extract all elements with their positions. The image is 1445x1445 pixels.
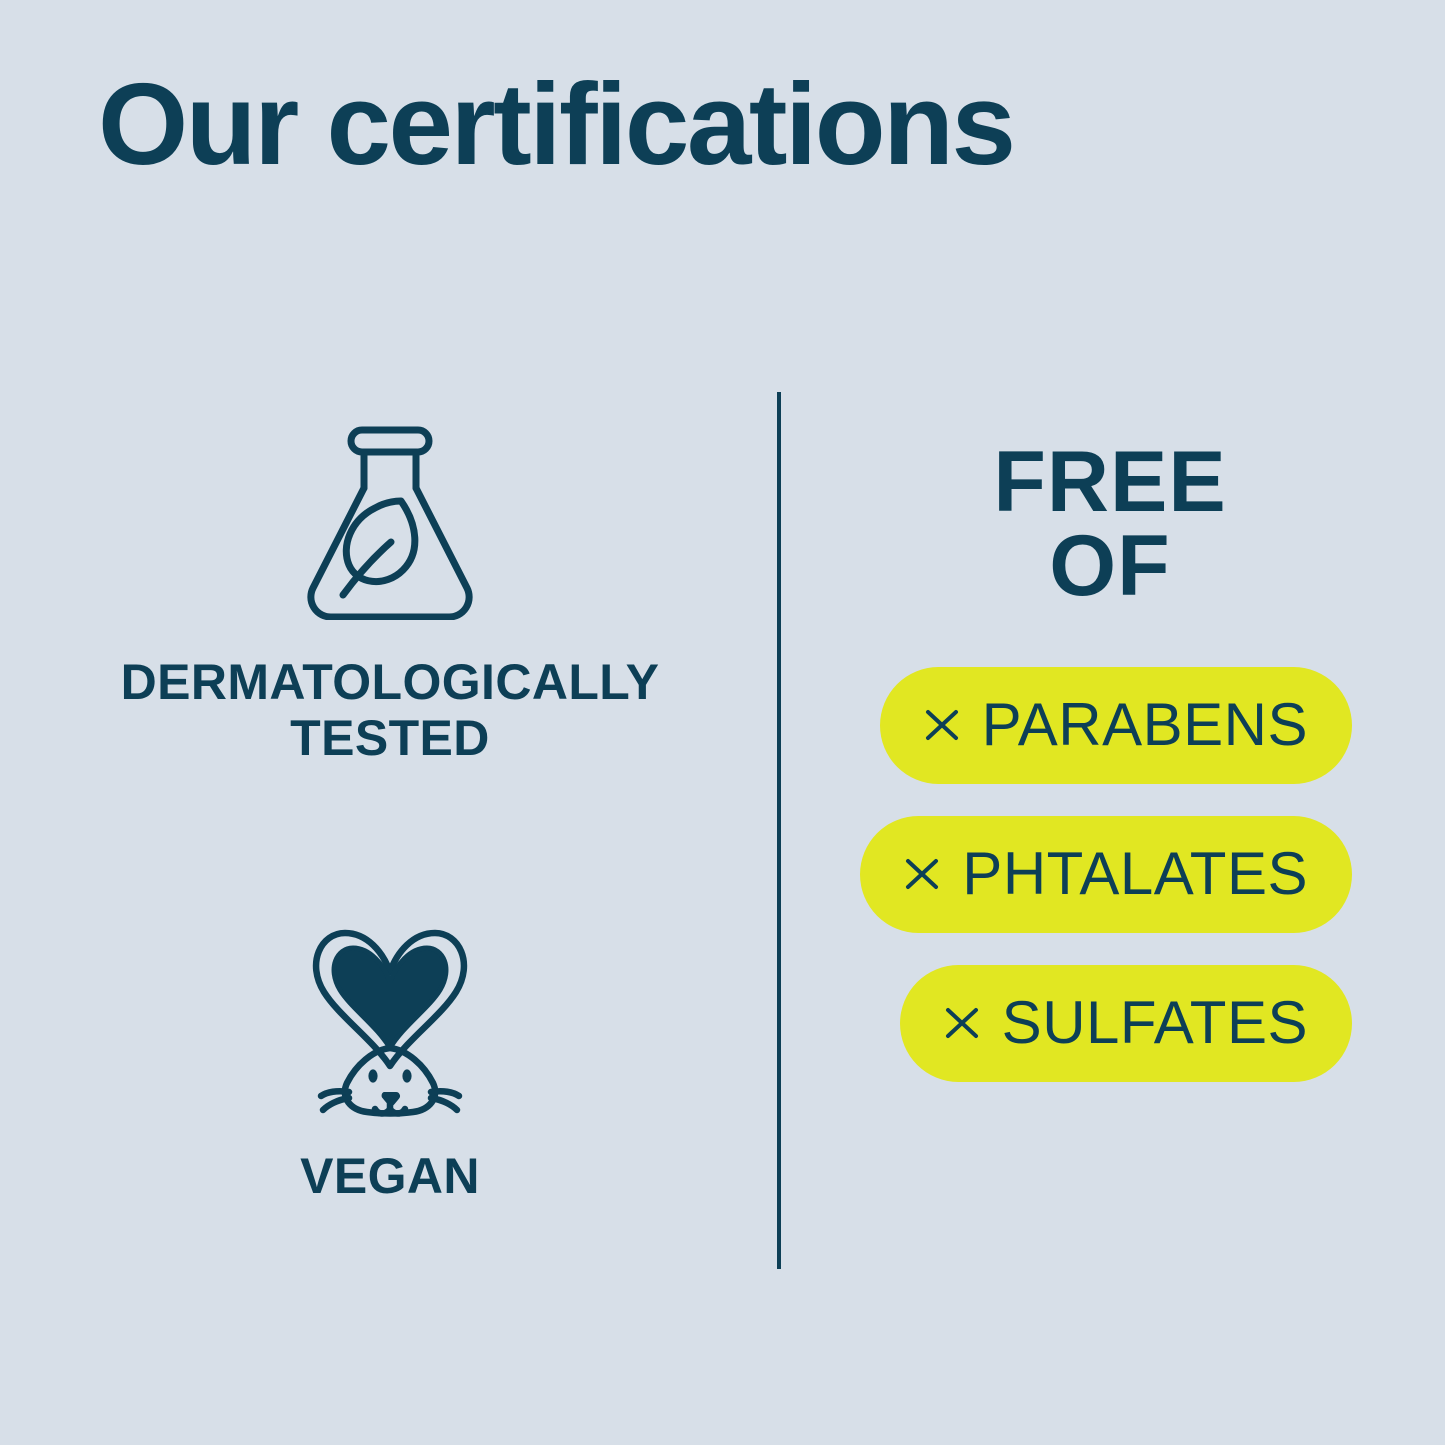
bunny-heart-ears-icon — [299, 920, 481, 1120]
free-of-item-phtalates[interactable]: PHTALATES — [860, 816, 1352, 933]
vertical-divider — [777, 392, 781, 1269]
certification-label: VEGAN — [60, 1148, 720, 1204]
free-of-list: PARABENS PHTALATES SULFATES — [830, 667, 1390, 1082]
page-title: Our certifications — [98, 66, 1013, 182]
free-of-item-label: PARABENS — [982, 695, 1308, 755]
free-of-title: FREE OF — [830, 440, 1390, 609]
free-of-title-line1: FREE — [830, 440, 1390, 524]
certification-dermatologically-tested: DERMATOLOGICALLY TESTED — [60, 420, 720, 766]
flask-leaf-icon — [299, 420, 481, 620]
certification-label-line1: DERMATOLOGICALLY — [121, 654, 660, 710]
certifications-panel: Our certifications DERMATOLOGICALLY TES — [0, 0, 1445, 1445]
free-of-item-sulfates[interactable]: SULFATES — [900, 965, 1352, 1082]
certification-vegan: VEGAN — [60, 920, 720, 1204]
x-mark-icon — [904, 856, 940, 892]
certification-label: DERMATOLOGICALLY TESTED — [60, 654, 720, 766]
certification-label-line1: VEGAN — [300, 1148, 480, 1204]
free-of-item-parabens[interactable]: PARABENS — [880, 667, 1352, 784]
certifications-column: DERMATOLOGICALLY TESTED — [60, 410, 720, 1270]
x-mark-icon — [924, 707, 960, 743]
free-of-title-line2: OF — [830, 524, 1390, 608]
free-of-item-label: SULFATES — [1002, 993, 1308, 1053]
free-of-item-label: PHTALATES — [962, 844, 1308, 904]
x-mark-icon — [944, 1005, 980, 1041]
free-of-column: FREE OF PARABENS PHTALATES — [830, 440, 1390, 1082]
certification-label-line2: TESTED — [290, 710, 490, 766]
